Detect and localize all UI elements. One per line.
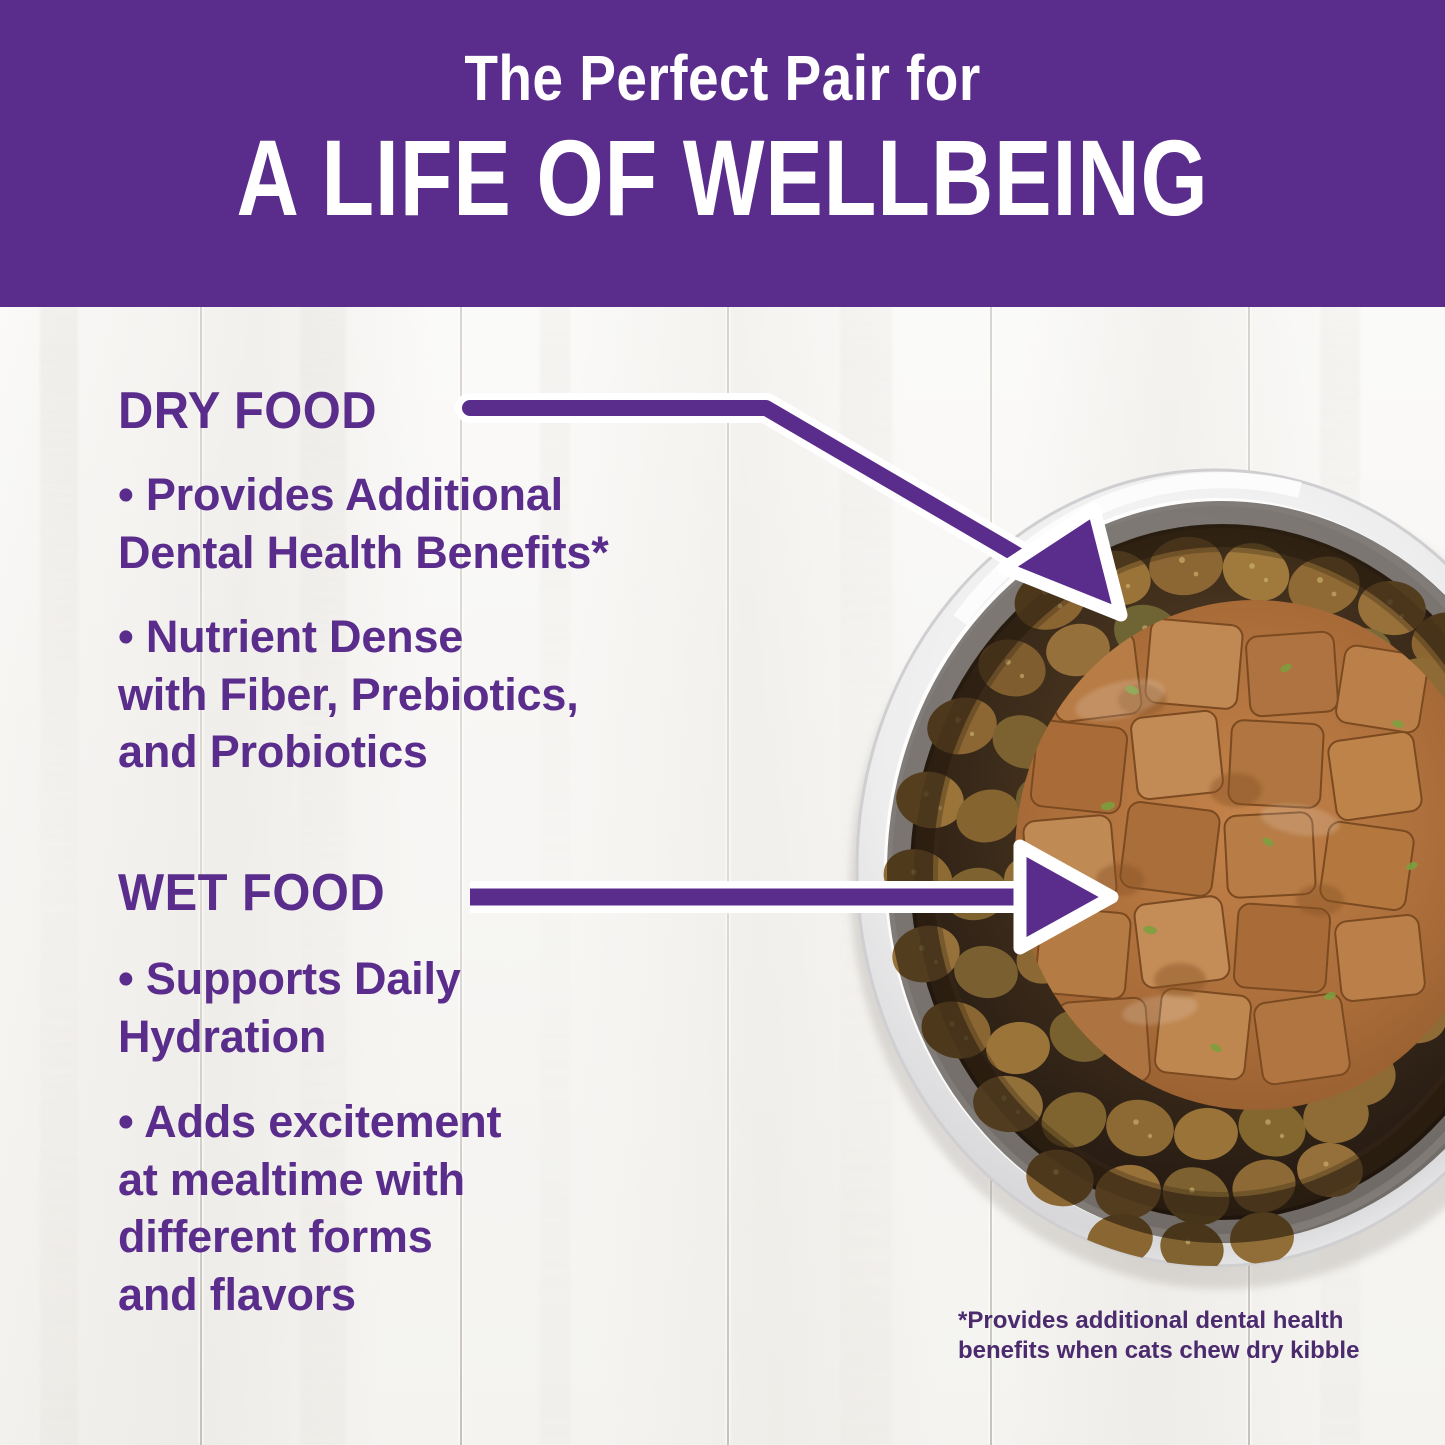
header-banner: The Perfect Pair for A LIFE OF WELLBEING <box>0 0 1445 307</box>
dental-health-footnote: *Provides additional dental health benef… <box>958 1306 1378 1366</box>
wet-food-bullet-2: • Adds excitement at mealtime with diffe… <box>118 1093 778 1323</box>
header-subtitle: The Perfect Pair for <box>101 46 1344 110</box>
wet-food-heading: WET FOOD <box>118 863 385 923</box>
product-feature-graphic: The Perfect Pair for A LIFE OF WELLBEING… <box>0 0 1445 1445</box>
wet-food-bullet-1: • Supports Daily Hydration <box>118 950 778 1065</box>
page-title: A LIFE OF WELLBEING <box>145 124 1301 232</box>
dry-food-bullet-1: • Provides Additional Dental Health Bene… <box>118 466 778 581</box>
dry-food-heading: DRY FOOD <box>118 381 377 441</box>
dry-food-bullet-2: • Nutrient Dense with Fiber, Prebiotics,… <box>118 608 778 781</box>
